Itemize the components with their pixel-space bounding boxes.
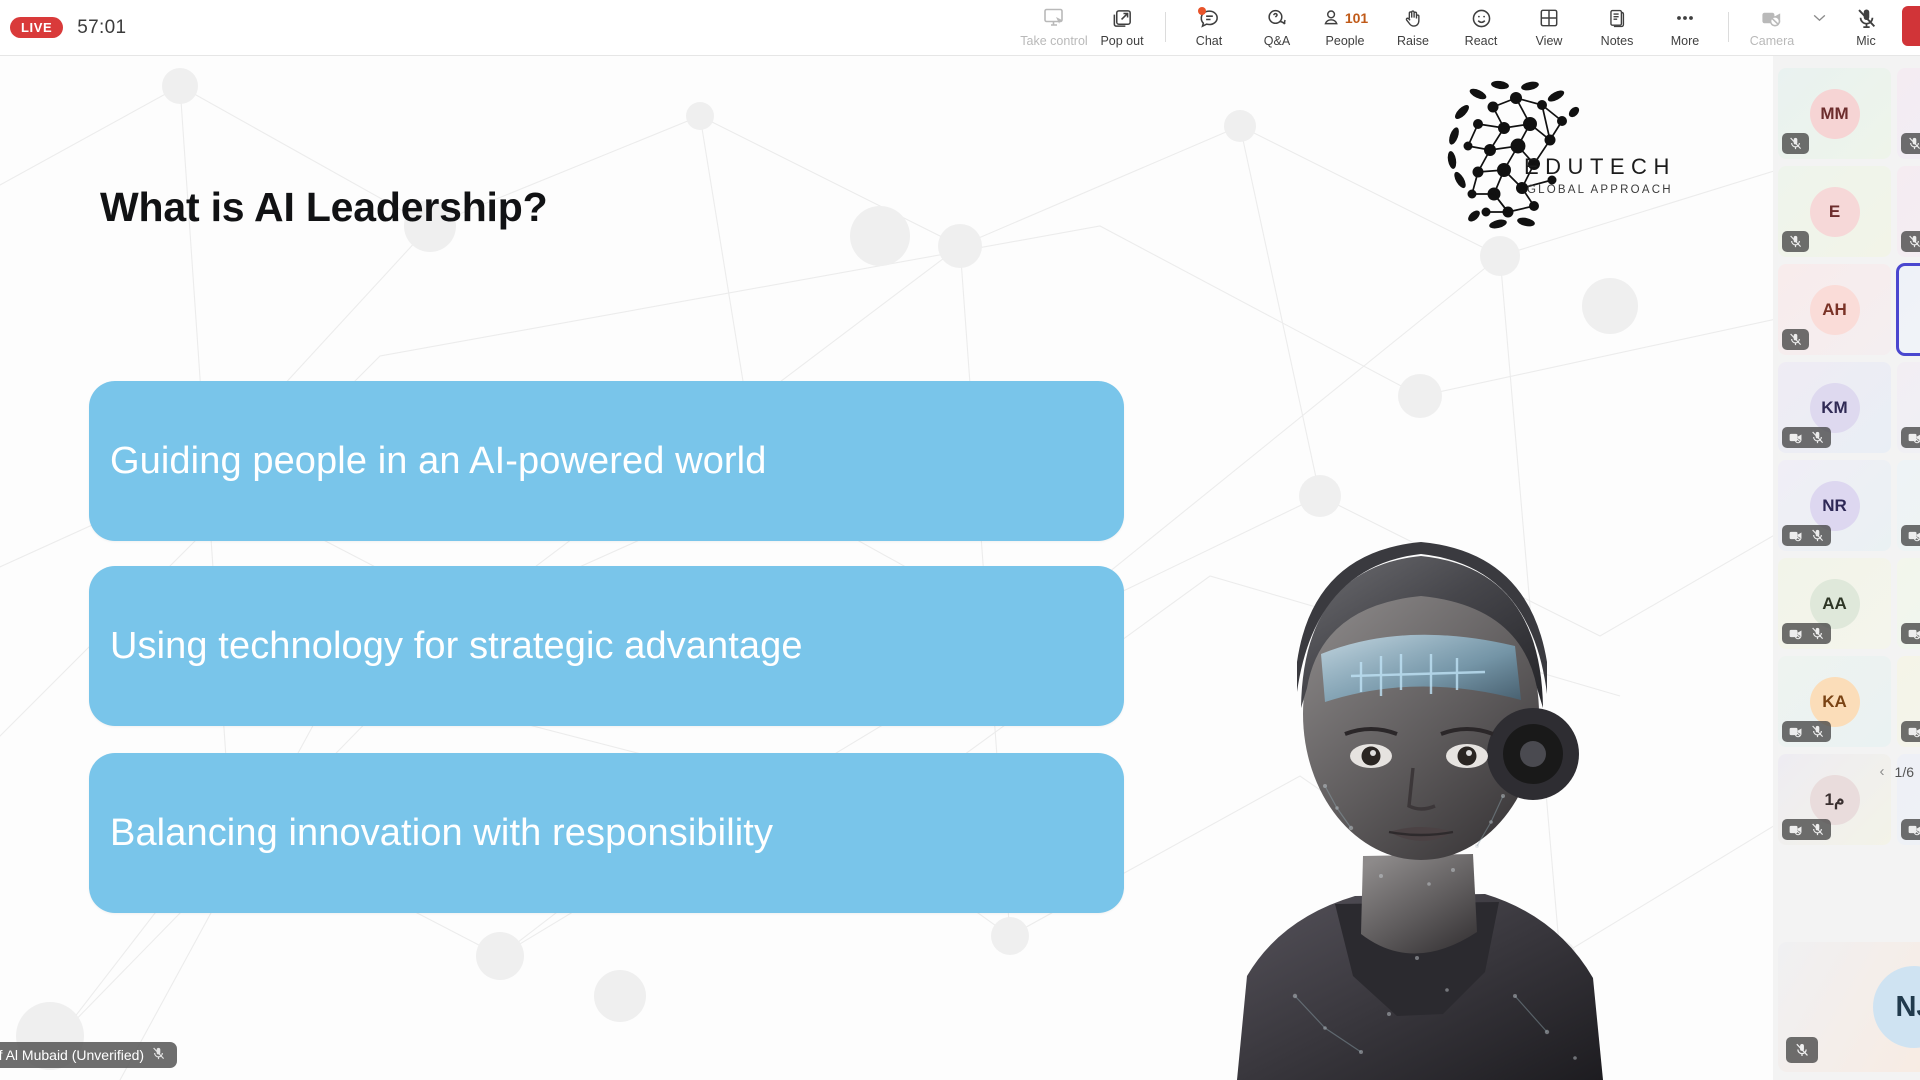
edutech-logo-text: EDUTECH GLOBAL APPROACH (1524, 154, 1676, 196)
view-label: View (1536, 34, 1563, 48)
pop-out-label: Pop out (1100, 34, 1143, 48)
participant-tile[interactable]: AH (1778, 264, 1891, 355)
edutech-logo: EDUTECH GLOBAL APPROACH (1438, 76, 1658, 231)
edutech-logo-name: EDUTECH (1524, 154, 1676, 180)
participant-tile[interactable]: E (1778, 166, 1891, 257)
view-button[interactable]: View (1515, 0, 1583, 56)
participant-tile[interactable]: AA (1778, 558, 1891, 649)
participant-status-badges (1901, 427, 1920, 448)
mic-off-icon (1810, 430, 1825, 445)
react-button[interactable]: React (1447, 0, 1515, 56)
react-label: React (1465, 34, 1498, 48)
participant-avatar: KM (1810, 383, 1860, 433)
slide-bullet-box-3: Balancing innovation with responsibility (89, 753, 1124, 913)
mic-off-icon (1810, 822, 1825, 837)
camera-off-icon (1760, 5, 1785, 31)
live-badge: LIVE (10, 17, 63, 38)
participant-status-badges (1901, 819, 1920, 840)
view-grid-icon (1538, 5, 1560, 31)
camera-off-icon (1788, 528, 1805, 543)
presenter-name-plate: haf Al Mubaid (Unverified) (0, 1042, 177, 1068)
participant-status-badges (1901, 231, 1920, 252)
live-status-group: LIVE 57:01 (0, 17, 240, 39)
more-button[interactable]: More (1651, 0, 1719, 56)
mic-off-icon (1855, 5, 1878, 31)
camera-button[interactable]: Camera (1738, 0, 1806, 56)
toolbar-divider-2 (1728, 12, 1729, 42)
toolbar-divider-1 (1165, 12, 1166, 42)
participant-tile[interactable] (1897, 656, 1920, 747)
participant-status-badges (1782, 427, 1831, 448)
mic-off-icon-small (151, 1046, 166, 1064)
leave-meeting-button[interactable] (1902, 6, 1920, 46)
slide-bullet-text-3: Balancing innovation with responsibility (89, 812, 773, 855)
participant-status-badges (1782, 525, 1831, 546)
slide-bullet-box-1: Guiding people in an AI-powered world (89, 381, 1124, 541)
take-control-icon (1042, 5, 1066, 31)
mic-button[interactable]: Mic (1832, 0, 1900, 56)
camera-off-icon (1907, 528, 1920, 543)
mic-off-icon (1794, 1042, 1810, 1058)
people-label: People (1326, 34, 1365, 48)
slide-bullet-text-2: Using technology for strategic advantage (89, 625, 803, 668)
participant-tile[interactable] (1897, 264, 1920, 355)
camera-options-chevron-down-icon[interactable] (1806, 0, 1832, 56)
slide-title: What is AI Leadership? (100, 184, 547, 231)
more-ellipsis-icon (1673, 5, 1697, 31)
more-label: More (1671, 34, 1699, 48)
participant-tile[interactable] (1897, 558, 1920, 649)
slide-bullet-box-2: Using technology for strategic advantage (89, 566, 1124, 726)
camera-label: Camera (1750, 34, 1794, 48)
camera-off-icon (1788, 430, 1805, 445)
camera-off-icon (1907, 626, 1920, 641)
camera-off-icon (1907, 724, 1920, 739)
pop-out-icon (1111, 5, 1134, 31)
meeting-toolbar: LIVE 57:01 Take control Pop ou (0, 0, 1920, 56)
filmstrip-pager[interactable]: ‹ 1/6 (1880, 763, 1914, 780)
participant-avatar: NR (1810, 481, 1860, 531)
participant-avatar: AA (1810, 579, 1860, 629)
chat-notification-dot (1198, 7, 1206, 15)
participant-tile-grid: MMEAHKMNRAAKA1م (1773, 68, 1920, 852)
camera-off-icon (1907, 430, 1920, 445)
notes-icon (1606, 5, 1628, 31)
mic-off-icon (1788, 332, 1803, 347)
notes-button[interactable]: Notes (1583, 0, 1651, 56)
participant-avatar: KA (1810, 677, 1860, 727)
participant-status-badges (1782, 329, 1809, 350)
mic-off-icon (1810, 528, 1825, 543)
mic-off-icon (1788, 136, 1803, 151)
spotlight-avatar: NJ (1873, 966, 1920, 1048)
qa-label: Q&A (1264, 34, 1290, 48)
participant-avatar: MM (1810, 89, 1860, 139)
participant-status-badges (1782, 133, 1809, 154)
spotlight-participant-tile[interactable]: NJ (1778, 942, 1920, 1072)
people-button[interactable]: 101 People (1311, 0, 1379, 56)
participant-tile[interactable] (1897, 362, 1920, 453)
notes-label: Notes (1601, 34, 1634, 48)
mic-off-icon (1788, 234, 1803, 249)
pager-label: 1/6 (1895, 764, 1914, 780)
take-control-label: Take control (1020, 34, 1087, 48)
participant-status-badges (1782, 721, 1831, 742)
participant-tile[interactable] (1897, 166, 1920, 257)
pop-out-button[interactable]: Pop out (1088, 0, 1156, 56)
edutech-logo-tagline: GLOBAL APPROACH (1524, 184, 1676, 196)
react-smiley-icon (1470, 5, 1493, 31)
mic-off-icon (1907, 234, 1920, 249)
toolbar-actions: Take control Pop out Chat (1020, 0, 1920, 56)
participant-tile[interactable]: 1م (1778, 754, 1891, 845)
people-count: 101 (1345, 10, 1368, 26)
presenter-name-label: haf Al Mubaid (Unverified) (0, 1047, 144, 1063)
raise-hand-button[interactable]: Raise (1379, 0, 1447, 56)
participant-tile[interactable]: KM (1778, 362, 1891, 453)
meeting-timer: 57:01 (77, 17, 126, 39)
participant-status-badges (1782, 231, 1809, 252)
qa-icon (1265, 5, 1289, 31)
spotlight-status-badges (1786, 1037, 1818, 1063)
participant-status-badges (1901, 623, 1920, 644)
ai-robot-illustration (1185, 456, 1655, 1080)
participant-tile[interactable]: KA (1778, 656, 1891, 747)
camera-off-icon (1788, 822, 1805, 837)
mic-label: Mic (1856, 34, 1875, 48)
camera-off-icon (1907, 822, 1920, 837)
pager-previous-chevron-left-icon[interactable]: ‹ (1880, 763, 1885, 780)
qa-button[interactable]: Q&A (1243, 0, 1311, 56)
camera-off-icon (1788, 724, 1805, 739)
participant-avatar: E (1810, 187, 1860, 237)
slide-bullet-text-1: Guiding people in an AI-powered world (89, 440, 766, 483)
participant-status-badges (1782, 819, 1831, 840)
participant-tile[interactable]: MM (1778, 68, 1891, 159)
people-icon: 101 (1322, 5, 1368, 31)
raise-hand-label: Raise (1397, 34, 1429, 48)
mic-off-icon (1810, 626, 1825, 641)
participant-avatar: AH (1810, 285, 1860, 335)
participant-avatar: 1م (1810, 775, 1860, 825)
participant-tile[interactable]: NR (1778, 460, 1891, 551)
take-control-button[interactable]: Take control (1020, 0, 1088, 56)
participant-status-badges (1901, 721, 1920, 742)
participant-status-badges (1782, 623, 1831, 644)
chat-button[interactable]: Chat (1175, 0, 1243, 56)
participant-status-badges (1901, 133, 1920, 154)
participants-filmstrip[interactable]: MMEAHKMNRAAKA1م ‹ 1/6 NJ (1773, 56, 1920, 1080)
participant-tile[interactable] (1897, 68, 1920, 159)
participant-status-badges (1901, 525, 1920, 546)
mic-off-icon (1907, 136, 1920, 151)
mic-off-icon (1810, 724, 1825, 739)
camera-off-icon (1788, 626, 1805, 641)
participant-tile[interactable] (1897, 460, 1920, 551)
raise-hand-icon (1402, 5, 1424, 31)
shared-slide-stage[interactable]: What is AI Leadership? Guiding people in… (0, 56, 1773, 1080)
chat-icon (1197, 5, 1221, 31)
chat-label: Chat (1196, 34, 1222, 48)
